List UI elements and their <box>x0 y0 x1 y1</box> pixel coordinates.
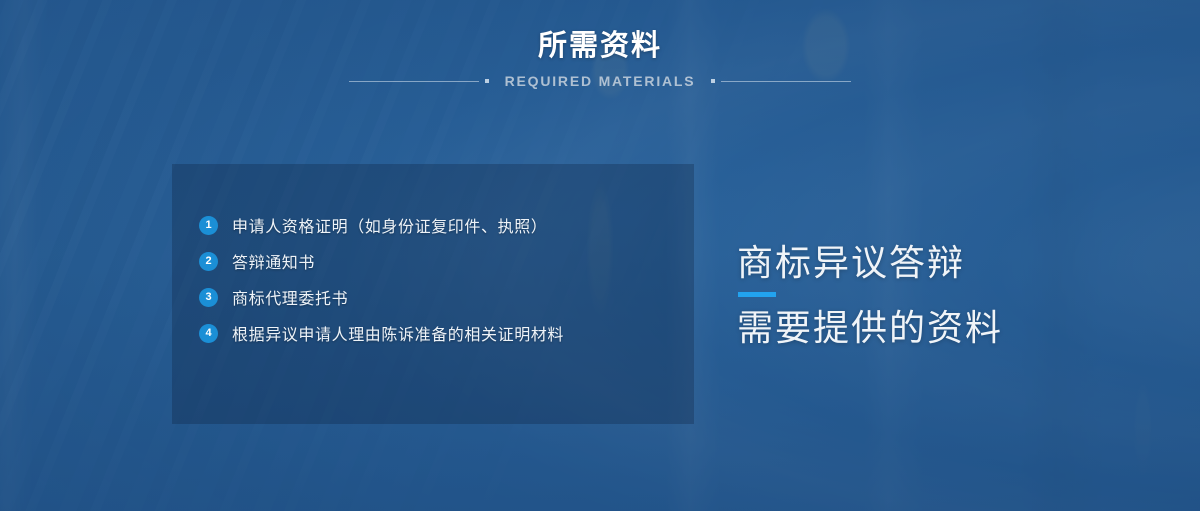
materials-panel: 1 申请人资格证明（如身份证复印件、执照） 2 答辩通知书 3 商标代理委托书 … <box>172 164 694 424</box>
side-heading-line-1: 商标异议答辩 <box>737 238 1167 288</box>
list-item-label: 商标代理委托书 <box>232 285 348 309</box>
side-heading-accent-bar <box>738 292 776 297</box>
list-item: 2 答辩通知书 <box>199 244 684 278</box>
page-title: 所需资料 <box>0 26 1200 66</box>
subtitle-row: REQUIRED MATERIALS <box>0 70 1200 92</box>
list-item: 1 申请人资格证明（如身份证复印件、执照） <box>199 208 684 242</box>
list-item-label: 根据异议申请人理由陈诉准备的相关证明材料 <box>232 321 564 345</box>
list-item: 4 根据异议申请人理由陈诉准备的相关证明材料 <box>199 316 684 350</box>
list-item-number-badge: 4 <box>199 324 218 343</box>
materials-list: 1 申请人资格证明（如身份证复印件、执照） 2 答辩通知书 3 商标代理委托书 … <box>199 208 684 352</box>
list-item-number-badge: 3 <box>199 288 218 307</box>
list-item-number-badge: 2 <box>199 252 218 271</box>
list-item: 3 商标代理委托书 <box>199 280 684 314</box>
side-heading-line-2: 需要提供的资料 <box>737 303 1167 353</box>
list-item-label: 答辩通知书 <box>232 249 315 273</box>
side-heading: 商标异议答辩 需要提供的资料 <box>737 238 1167 353</box>
required-materials-banner: 所需资料 REQUIRED MATERIALS 1 申请人资格证明（如身份证复印… <box>0 0 1200 511</box>
header-rule-right-icon <box>711 70 851 92</box>
header-rule-left-icon <box>349 70 489 92</box>
list-item-label: 申请人资格证明（如身份证复印件、执照） <box>232 213 547 237</box>
page-subtitle: REQUIRED MATERIALS <box>489 73 712 89</box>
list-item-number-badge: 1 <box>199 216 218 235</box>
banner-header: 所需资料 REQUIRED MATERIALS <box>0 26 1200 92</box>
